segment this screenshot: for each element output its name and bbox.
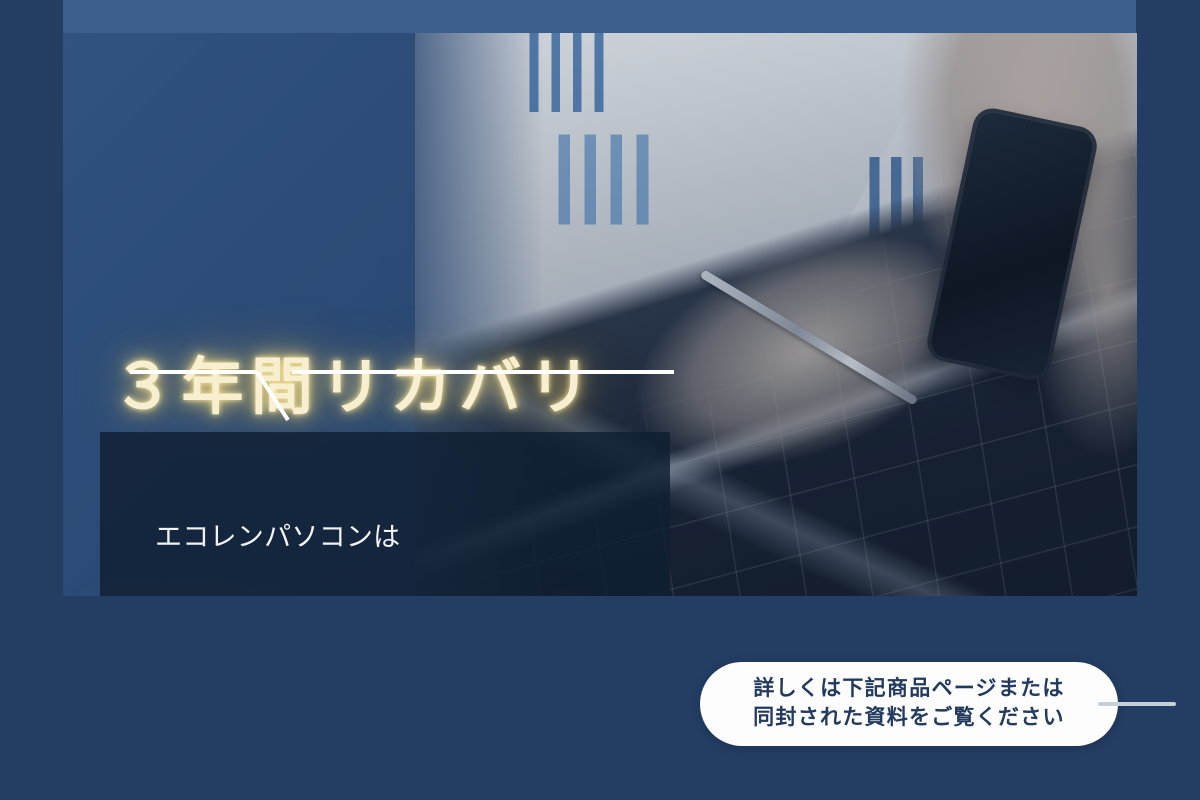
callout-pill-line-2: 同封された資料をご覧ください <box>753 706 1065 729</box>
callout-pill-line-1: 詳しくは下記商品ページまたは <box>753 677 1064 700</box>
callout-pill[interactable]: 詳しくは下記商品ページまたは 同封された資料をご覧ください <box>700 662 1118 746</box>
promo-banner: ３年間リカバリ 初期化サービス エコレンパソコンは 調子が悪くなっても ウイルス… <box>0 0 1200 800</box>
callout-pill-text: 詳しくは下記商品ページまたは 同封された資料をご覧ください <box>753 675 1065 733</box>
top-accent-bar <box>63 0 1136 33</box>
body-line-1: エコレンパソコンは <box>155 519 675 557</box>
headline-line-1: ３年間リカバリ <box>112 344 872 432</box>
callout-pill-tail-line <box>1098 702 1176 706</box>
